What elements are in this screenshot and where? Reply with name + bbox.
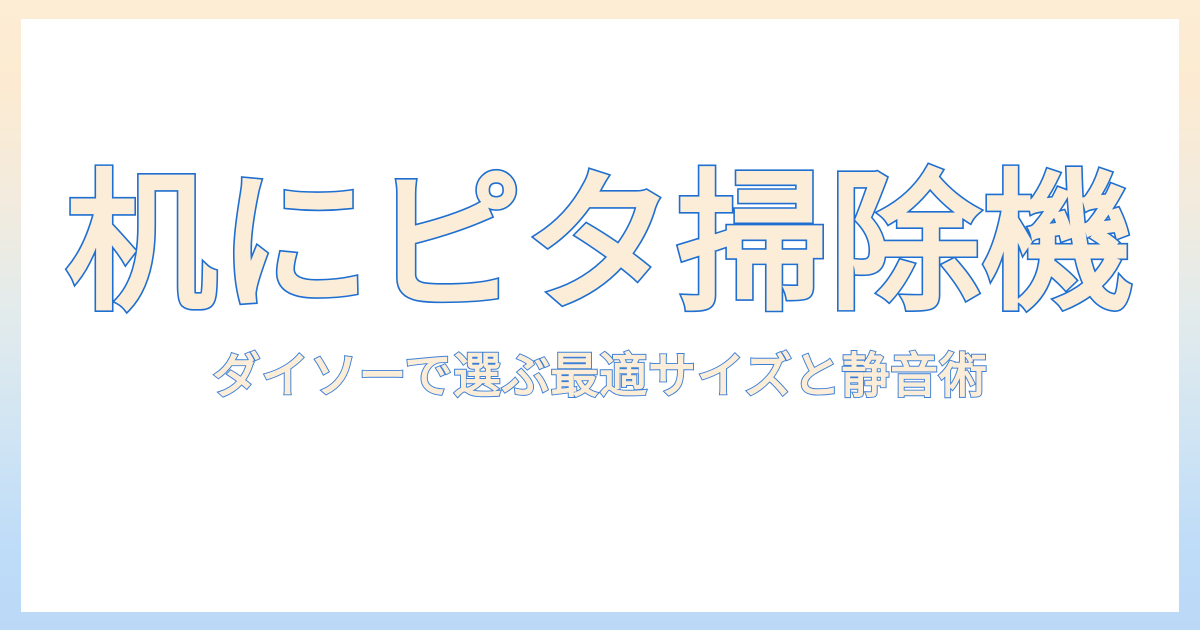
poster-canvas: 机にピタ掃除機 ダイソーで選ぶ最適サイズと静音術	[0, 0, 1200, 630]
content-card: 机にピタ掃除機 ダイソーで選ぶ最適サイズと静音術	[21, 19, 1179, 612]
page-subtitle: ダイソーで選ぶ最適サイズと静音術	[212, 352, 987, 400]
page-title: 机にピタ掃除機	[65, 168, 1134, 320]
title-block: 机にピタ掃除機 ダイソーで選ぶ最適サイズと静音術	[21, 19, 1179, 612]
